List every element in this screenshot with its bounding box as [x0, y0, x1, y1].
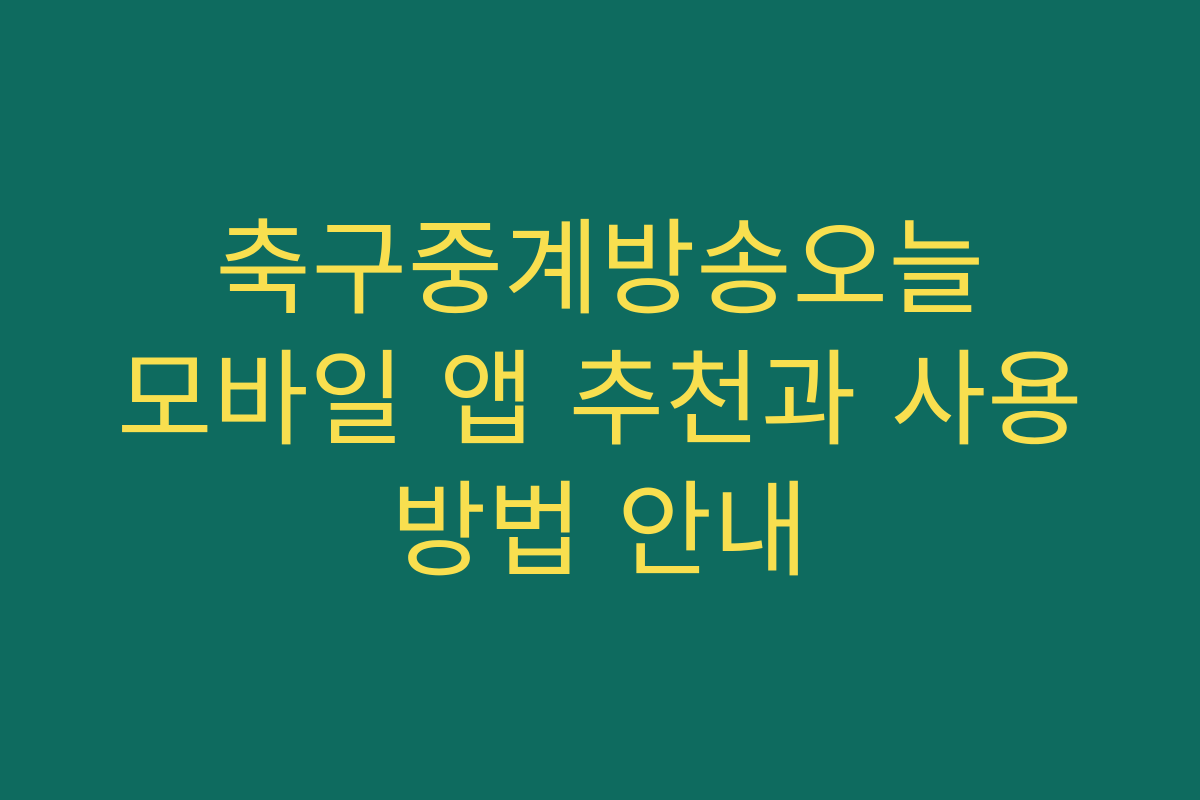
thumbnail-card: 축구중계방송오늘 모바일 앱 추천과 사용 방법 안내 — [0, 0, 1200, 800]
headline-title: 축구중계방송오늘 모바일 앱 추천과 사용 방법 안내 — [94, 204, 1106, 597]
headline-block: 축구중계방송오늘 모바일 앱 추천과 사용 방법 안내 — [0, 204, 1200, 597]
